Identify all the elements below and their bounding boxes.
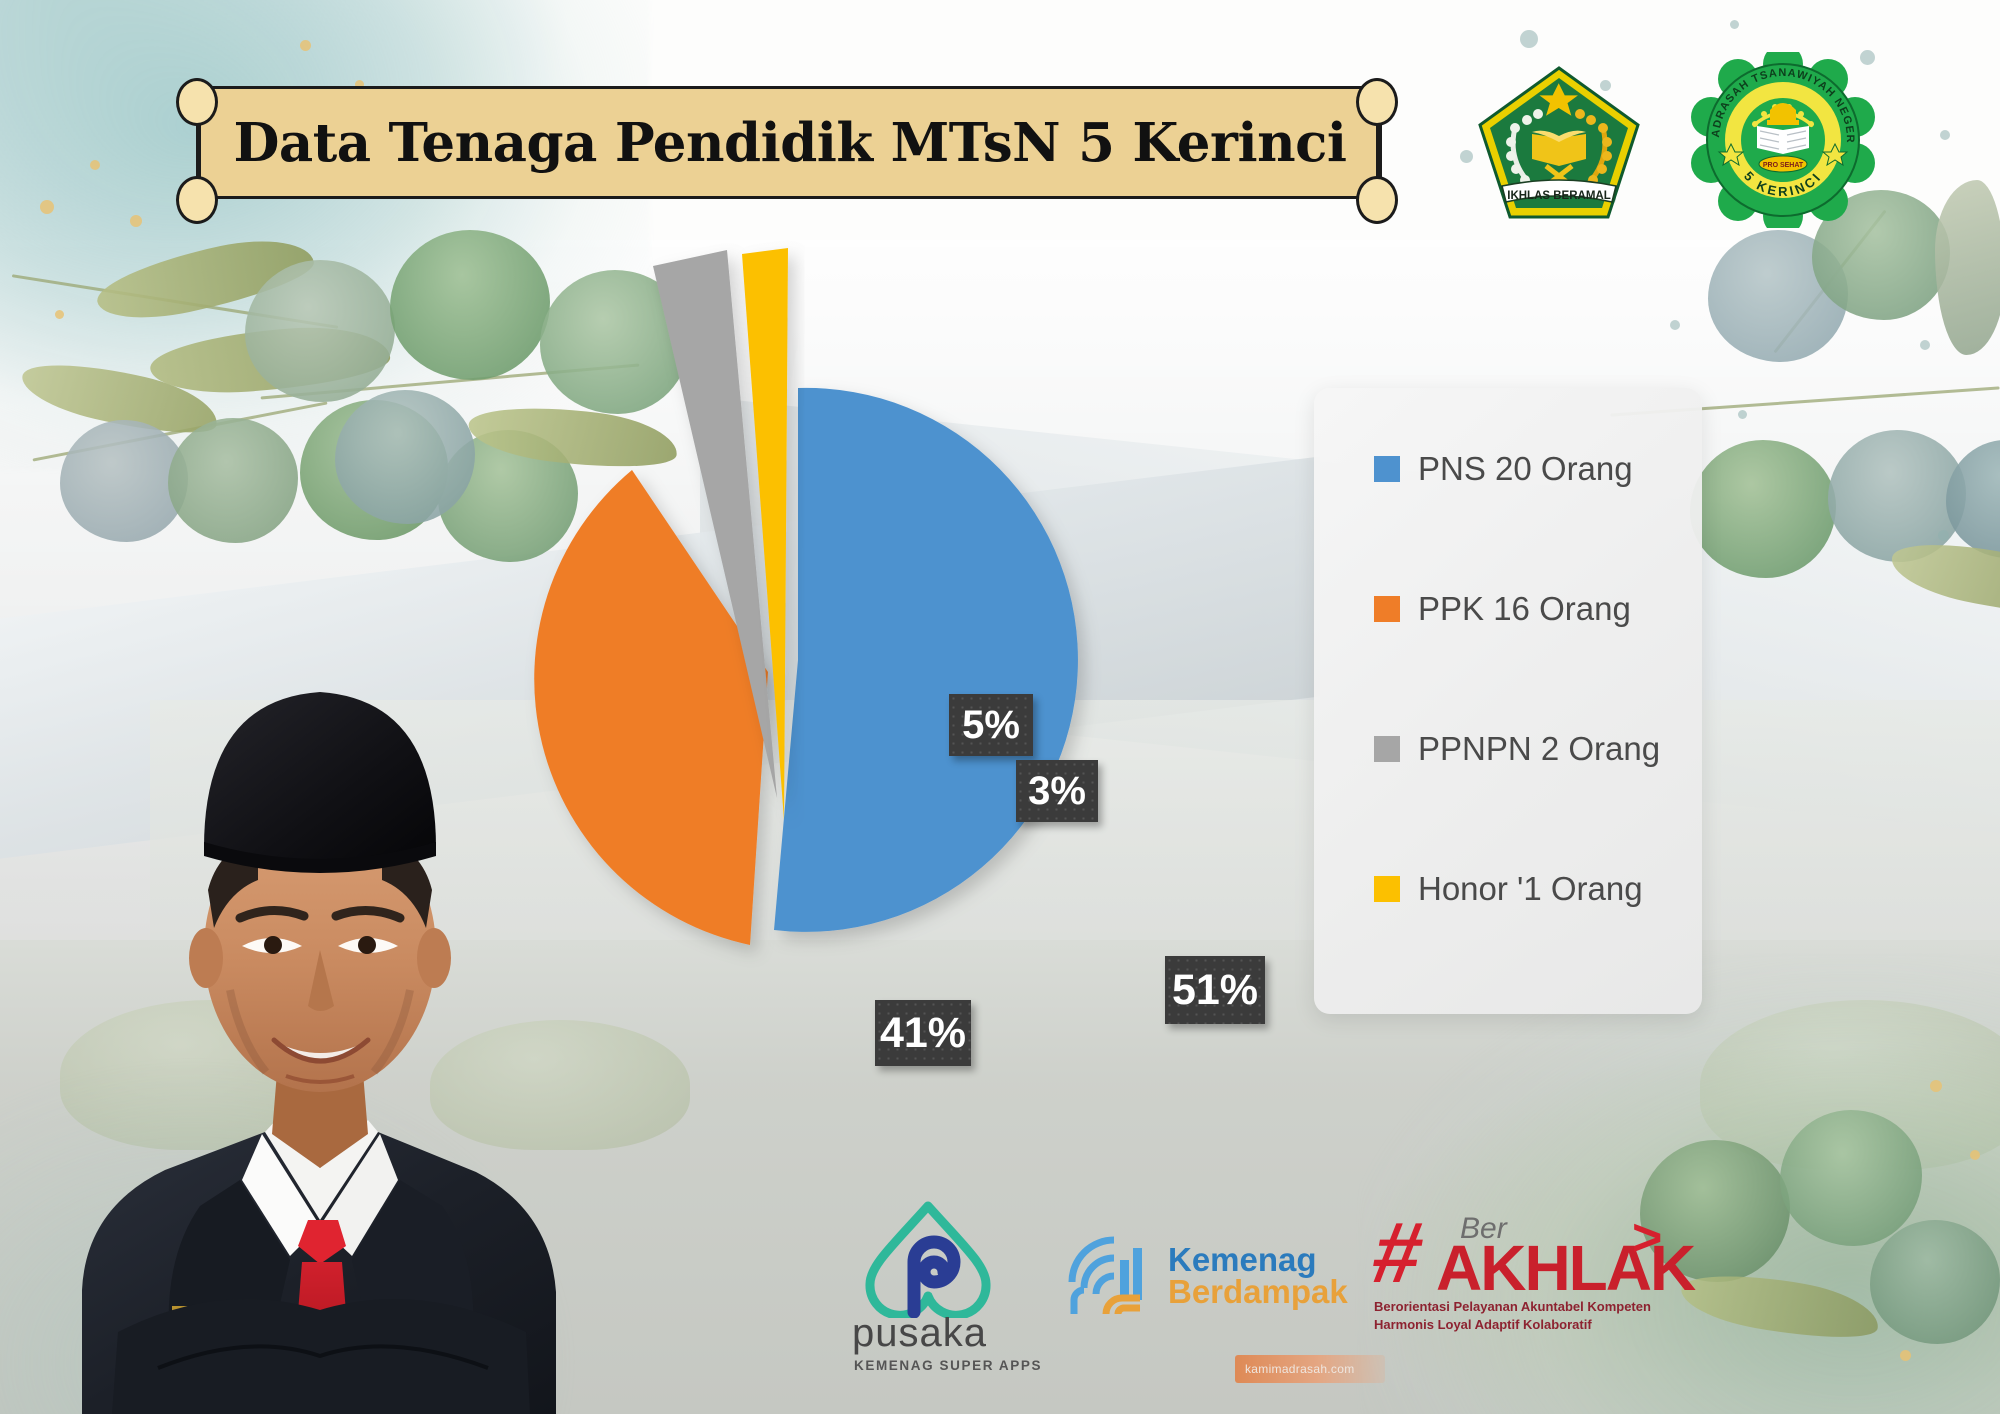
pie-label-ppnpn: 5%: [949, 694, 1033, 756]
kemenag-berdampak-line1: Kemenag: [1168, 1244, 1348, 1275]
legend-item-ppk[interactable]: PPK 16 Orang: [1374, 590, 1702, 628]
kemenag-berdampak-logo: Kemenag Berdampak: [1062, 1230, 1362, 1322]
legend-item-pns[interactable]: PNS 20 Orang: [1374, 450, 1702, 488]
peci-cap: [204, 692, 436, 868]
pie-label-honor: 3%: [1016, 760, 1098, 822]
akhlak-chevron-icon: >: [1632, 1208, 1662, 1268]
legend-item-honor[interactable]: Honor '1 Orang: [1374, 870, 1702, 908]
legend-swatch-pns: [1374, 456, 1400, 482]
ear-left: [189, 928, 223, 988]
legend-swatch-ppnpn: [1374, 736, 1400, 762]
title-banner: Data Tenaga Pendidik MTsN 5 Kerinci: [198, 86, 1382, 199]
banner-pin-top-right: [1356, 78, 1398, 126]
ear-right: [417, 928, 451, 988]
legend-label-pns: PNS 20 Orang: [1418, 450, 1633, 488]
site-badge-text: kamimadrasah.com: [1235, 1362, 1355, 1376]
legend-swatch-honor: [1374, 876, 1400, 902]
mtsn-kerinci-logo: MADRASAH TSANAWIYAH NEGERI 5 KERINCI PRO…: [1688, 52, 1878, 228]
pie-label-ppk: 41%: [875, 1000, 971, 1066]
legend-swatch-ppk: [1374, 596, 1400, 622]
akhlak-subtitle-line2: Harmonis Loyal Adaptif Kolaboratif: [1374, 1316, 1674, 1334]
site-badge: kamimadrasah.com: [1235, 1355, 1385, 1383]
legend-item-ppnpn[interactable]: PPNPN 2 Orang: [1374, 730, 1702, 768]
legend-label-honor: Honor '1 Orang: [1418, 870, 1643, 908]
pusaka-logo: pusaka KEMENAG SUPER APPS: [840, 1200, 1050, 1373]
kemenag-berdampak-line2: Berdampak: [1168, 1275, 1348, 1308]
mtsn-inner-motto: PRO SEHAT: [1763, 162, 1804, 169]
banner-pin-bottom: [176, 176, 218, 224]
page-title: Data Tenaga Pendidik MTsN 5 Kerinci: [233, 112, 1346, 174]
legend-label-ppk: PPK 16 Orang: [1418, 590, 1631, 628]
banner-pin-top: [176, 78, 218, 126]
berakhlak-logo: # Ber AKHLAK > Berorientasi Pelayanan Ak…: [1374, 1214, 1674, 1333]
akhlak-hash: #: [1366, 1210, 1429, 1296]
pie-label-pns: 51%: [1165, 956, 1265, 1024]
pusaka-subtitle: KEMENAG SUPER APPS: [854, 1358, 1050, 1373]
chart-legend: PNS 20 Orang PPK 16 Orang PPNPN 2 Orang …: [1314, 388, 1702, 1014]
legend-label-ppnpn: PPNPN 2 Orang: [1418, 730, 1660, 768]
pusaka-mark: [840, 1200, 1050, 1318]
pie-slice-pns[interactable]: [774, 388, 1078, 932]
kemenag-motto-text: IKHLAS BERAMAL: [1507, 190, 1611, 202]
person-photo: [0, 520, 650, 1414]
slide-canvas: Data Tenaga Pendidik MTsN 5 Kerinci IKHL…: [0, 0, 2000, 1414]
kemenag-logo: IKHLAS BERAMAL: [1474, 62, 1644, 222]
kemenag-berdampak-mark: [1062, 1230, 1154, 1322]
banner-pin-bottom-right: [1356, 176, 1398, 224]
